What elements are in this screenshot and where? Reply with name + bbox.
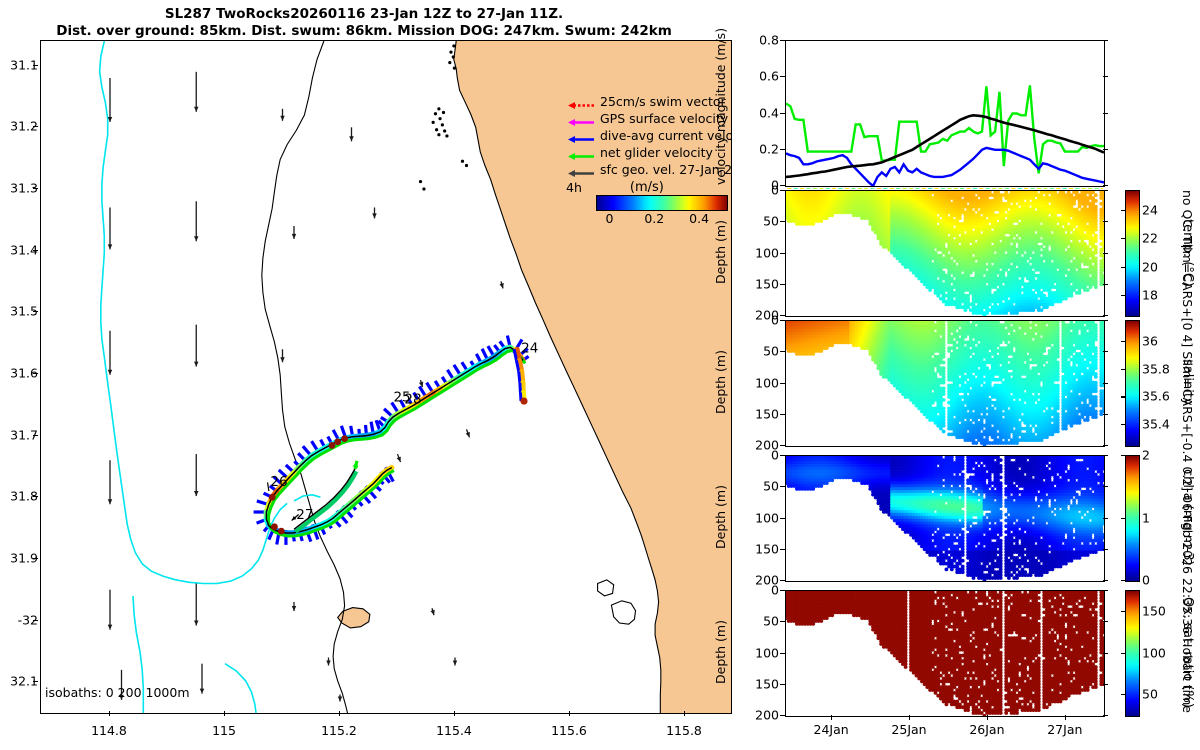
velocity-y-tick-right xyxy=(1103,149,1108,150)
chlorophyll-section-colorbar-tick-label: 2 xyxy=(1142,448,1150,463)
salinity-section-depth-tick-label: 100 xyxy=(745,375,779,390)
map-colorbar xyxy=(596,195,728,211)
temperature-section-depth-tick xyxy=(780,221,785,222)
oxygen-section-depth-tick-label: 0 xyxy=(745,583,779,598)
salinity-section-colorbar-tick xyxy=(1121,369,1125,370)
temperature-section-colorbar-tick xyxy=(1121,210,1125,211)
chlorophyll-section-colorbar xyxy=(1125,455,1140,582)
map-x-tick xyxy=(339,711,340,716)
legend-entry: 25cm/s swim vector xyxy=(566,93,732,110)
legend-label: 25cm/s swim vector xyxy=(596,94,726,109)
salinity-section-colorbar-tick-label: 36 xyxy=(1142,333,1158,348)
oxygen-section-colorbar-tick xyxy=(1121,611,1125,612)
oxygen-section-depth-tick-label: 100 xyxy=(745,645,779,660)
salinity-section-depth-tick-label: 50 xyxy=(745,344,779,359)
legend-entry: net glider velocity xyxy=(566,144,732,161)
chlorophyll-section-panel[interactable] xyxy=(785,455,1105,582)
chlorophyll-section-depth-tick xyxy=(780,580,785,581)
chlorophyll-section-canvas xyxy=(786,456,1104,581)
temperature-section-colorbar-tick-label: 24 xyxy=(1142,202,1158,217)
temperature-section-depth-tick xyxy=(780,190,785,191)
oxygen-section-depth-tick xyxy=(780,715,785,716)
title-line-2: Dist. over ground: 85km. Dist. swum: 86k… xyxy=(0,23,728,40)
temperature-section-depth-tick xyxy=(780,253,785,254)
svg-text:27: 27 xyxy=(296,507,313,523)
time-tick xyxy=(987,715,988,720)
oxygen-section-colorbar-tick xyxy=(1121,694,1125,695)
chlorophyll-section-depth-tick-label: 50 xyxy=(745,479,779,494)
oxygen-section-depth-tick xyxy=(780,684,785,685)
chlorophyll-section-depth-tick-label: 0 xyxy=(745,448,779,463)
chlorophyll-section-colorbar-tick-label: 1 xyxy=(1142,510,1150,525)
colorbar-tick-label: 0.4 xyxy=(689,211,709,226)
salinity-section-depth-tick xyxy=(780,351,785,352)
oxygen-section-colorbar-tick-label: 100 xyxy=(1142,645,1166,660)
svg-text:24: 24 xyxy=(521,340,538,356)
salinity-section-y-axis-label: Depth (m) xyxy=(713,320,728,445)
velocity-y-tick-label: 0.4 xyxy=(745,105,779,120)
time-axis: 24Jan25Jan26Jan27Jan xyxy=(785,722,1103,740)
map-legend: 25cm/s swim vector GPS surface velocity … xyxy=(566,93,732,226)
chlorophyll-section-depth-tick-label: 150 xyxy=(745,541,779,556)
dive-marker-strip xyxy=(785,181,1103,189)
chlorophyll-section-colorbar-tick xyxy=(1121,580,1125,581)
time-tick-label: 27Jan xyxy=(1047,722,1082,737)
salinity-section-colorbar-tick xyxy=(1121,396,1125,397)
map-y-tick xyxy=(33,65,38,66)
svg-text:28: 28 xyxy=(404,392,421,408)
time-tick xyxy=(831,715,832,720)
time-tick-label: 26Jan xyxy=(969,722,1004,737)
isobath-legend-label: isobaths: 0 200 1000m xyxy=(45,685,190,700)
chlorophyll-section-depth-tick xyxy=(780,549,785,550)
map-x-tick-label: 114.8 xyxy=(91,723,127,738)
temperature-section-depth-tick-label: 0 xyxy=(745,183,779,198)
temperature-section-depth-tick-right xyxy=(1103,315,1108,316)
velocity-y-tick-label: 0.6 xyxy=(745,69,779,84)
map-y-tick xyxy=(33,620,38,621)
salinity-section-colorbar-tick-label: 35.6 xyxy=(1142,389,1170,404)
chlorophyll-section-depth-tick xyxy=(780,455,785,456)
oxygen-section-depth-tick-label: 50 xyxy=(745,614,779,629)
map-y-tick xyxy=(33,126,38,127)
velocity-y-tick xyxy=(780,113,785,114)
salinity-section-colorbar-tick xyxy=(1121,424,1125,425)
temperature-section-depth-tick-right xyxy=(1103,284,1108,285)
temperature-section-depth-tick-label: 100 xyxy=(745,245,779,260)
temperature-section-colorbar-tick-label: 18 xyxy=(1142,288,1158,303)
map-panel[interactable]: 2425282627 isobaths: 0 200 1000m 25cm/s … xyxy=(40,40,732,714)
salinity-section-colorbar-tick xyxy=(1121,341,1125,342)
temperature-section-colorbar-tick xyxy=(1121,238,1125,239)
map-x-tick xyxy=(684,711,685,716)
temperature-section-colorbar-tick xyxy=(1121,267,1125,268)
salinity-section-colorbar-tick-label: 35.4 xyxy=(1142,417,1170,432)
map-x-axis: 114.8115115.2115.4115.6115.8 xyxy=(40,716,730,736)
velocity-y-tick xyxy=(780,149,785,150)
map-y-axis: 31.131.231.331.431.531.631.731.831.9-323… xyxy=(0,40,38,712)
chlorophyll-section-colorbar-tick xyxy=(1121,518,1125,519)
legend-label: net glider velocity xyxy=(596,145,713,160)
processing-stamp: no QC. Tlim=CARS+[0 4] Slim=CARS+[-0.4 0… xyxy=(1180,190,1195,735)
map-y-tick xyxy=(33,373,38,374)
temperature-section-colorbar xyxy=(1125,190,1140,317)
map-colorbar-ticks: 00.20.4 xyxy=(596,211,726,226)
oxygen-section-depth-tick xyxy=(780,621,785,622)
legend-entry: GPS surface velocity xyxy=(566,110,732,127)
temperature-section-depth-tick-right xyxy=(1103,221,1108,222)
svg-text:26: 26 xyxy=(270,474,287,490)
figure-title: SL287 TwoRocks20260116 23-Jan 12Z to 27-… xyxy=(0,6,728,40)
oxygen-section-colorbar-tick-label: 50 xyxy=(1142,687,1158,702)
legend-label: GPS surface velocity xyxy=(596,111,728,126)
salinity-section-depth-tick-right xyxy=(1103,445,1108,446)
velocity-y-tick xyxy=(780,76,785,77)
temperature-section-depth-tick xyxy=(780,315,785,316)
title-line-1: SL287 TwoRocks20260116 23-Jan 12Z to 27-… xyxy=(0,6,728,23)
map-x-tick xyxy=(224,711,225,716)
temperature-section-colorbar-tick-label: 20 xyxy=(1142,259,1158,274)
velocity-y-tick-right xyxy=(1103,113,1108,114)
legend-arrow-icon xyxy=(566,164,596,175)
oxygen-section-depth-tick-label: 200 xyxy=(745,708,779,723)
salinity-section-depth-tick-right xyxy=(1103,320,1108,321)
velocity-y-tick-right xyxy=(1103,76,1108,77)
chlorophyll-section-depth-tick xyxy=(780,518,785,519)
velocity-canvas xyxy=(786,41,1104,186)
oxygen-section-canvas xyxy=(786,591,1104,716)
velocity-y-tick-right xyxy=(1103,185,1108,186)
map-y-tick xyxy=(33,558,38,559)
time-tick xyxy=(909,715,910,720)
velocity-y-tick xyxy=(780,185,785,186)
oxygen-section-depth-tick-right xyxy=(1103,590,1108,591)
salinity-section-depth-tick xyxy=(780,445,785,446)
salinity-section-depth-tick-label: 0 xyxy=(745,313,779,328)
map-y-tick xyxy=(33,681,38,682)
oxygen-section-depth-tick-right xyxy=(1103,653,1108,654)
chlorophyll-section-colorbar-tick-label: 0 xyxy=(1142,573,1150,588)
oxygen-section-y-axis-label: Depth (m) xyxy=(713,590,728,715)
temperature-section-depth-tick-right xyxy=(1103,190,1108,191)
map-x-tick-label: 115.4 xyxy=(436,723,472,738)
velocity-y-tick-label: 0.2 xyxy=(745,141,779,156)
chlorophyll-section-depth-tick-right xyxy=(1103,486,1108,487)
oxygen-section-colorbar-tick-label: 150 xyxy=(1142,603,1166,618)
salinity-section-depth-tick-right xyxy=(1103,414,1108,415)
temperature-section-depth-tick-label: 50 xyxy=(745,214,779,229)
temperature-section-depth-tick-right xyxy=(1103,253,1108,254)
oxygen-section-depth-tick-label: 150 xyxy=(745,676,779,691)
legend-label: sfc geo. vel. 27-Jan-2026 xyxy=(596,162,732,177)
map-y-tick xyxy=(33,250,38,251)
map-y-tick xyxy=(33,311,38,312)
legend-entry: dive-avg current veloc. xyxy=(566,127,732,144)
salinity-section-depth-tick xyxy=(780,383,785,384)
chlorophyll-section-depth-tick-right xyxy=(1103,518,1108,519)
oxygen-section-depth-tick xyxy=(780,590,785,591)
map-x-tick xyxy=(109,711,110,716)
velocity-y-tick-label: 0.8 xyxy=(745,33,779,48)
chlorophyll-section-depth-tick-right xyxy=(1103,549,1108,550)
salinity-section-depth-tick xyxy=(780,320,785,321)
legend-arrow-icon xyxy=(566,113,596,124)
time-tick-label: 25Jan xyxy=(891,722,926,737)
salinity-section-depth-tick-right xyxy=(1103,351,1108,352)
oxygen-section-depth-tick-right xyxy=(1103,621,1108,622)
chlorophyll-section-depth-tick-right xyxy=(1103,455,1108,456)
temperature-section-panel[interactable] xyxy=(785,190,1105,317)
legend-entry: sfc geo. vel. 27-Jan-2026 xyxy=(566,161,732,178)
velocity-y-tick xyxy=(780,40,785,41)
temperature-section-depth-tick xyxy=(780,284,785,285)
colorbar-tick-label: 0 xyxy=(605,211,613,226)
map-x-tick-label: 115.2 xyxy=(321,723,357,738)
map-x-tick-label: 115.8 xyxy=(666,723,702,738)
salinity-section-depth-tick xyxy=(780,414,785,415)
legend-arrow-icon xyxy=(566,147,596,158)
map-y-tick xyxy=(33,435,38,436)
chlorophyll-section-colorbar-tick xyxy=(1121,455,1125,456)
colorbar-tick-label: 0.2 xyxy=(644,211,664,226)
map-x-tick xyxy=(569,711,570,716)
velocity-plot[interactable] xyxy=(785,40,1105,187)
oxygen-section-colorbar-tick xyxy=(1121,653,1125,654)
oxygen-section-panel[interactable] xyxy=(785,590,1105,717)
chlorophyll-section-depth-tick-right xyxy=(1103,580,1108,581)
scale-note: 4h xyxy=(566,180,582,195)
map-x-tick-label: 115 xyxy=(212,723,236,738)
time-tick-label: 24Jan xyxy=(814,722,849,737)
salinity-section-depth-tick-right xyxy=(1103,383,1108,384)
salinity-section-panel[interactable] xyxy=(785,320,1105,447)
temperature-section-canvas xyxy=(786,191,1104,316)
colorbar-title: (m/s) xyxy=(582,180,712,195)
temperature-section-depth-tick-label: 150 xyxy=(745,276,779,291)
legend-arrow-icon xyxy=(566,130,596,141)
map-y-tick xyxy=(33,188,38,189)
legend-label: dive-avg current veloc. xyxy=(596,128,732,143)
oxygen-section-depth-tick-right xyxy=(1103,684,1108,685)
velocity-y-axis-label: velocity magnitude (m/s) xyxy=(713,40,728,185)
temperature-section-y-axis-label: Depth (m) xyxy=(713,190,728,315)
chlorophyll-section-y-axis-label: Depth (m) xyxy=(713,455,728,580)
oxygen-section-depth-tick xyxy=(780,653,785,654)
salinity-section-canvas xyxy=(786,321,1104,446)
oxygen-section-depth-tick-right xyxy=(1103,715,1108,716)
temperature-section-colorbar-tick-label: 22 xyxy=(1142,231,1158,246)
map-x-tick-label: 115.6 xyxy=(551,723,587,738)
velocity-y-tick-right xyxy=(1103,40,1108,41)
chlorophyll-section-depth-tick xyxy=(780,486,785,487)
time-tick xyxy=(1065,715,1066,720)
salinity-section-depth-tick-label: 150 xyxy=(745,406,779,421)
oxygen-section-colorbar xyxy=(1125,590,1140,717)
salinity-section-colorbar xyxy=(1125,320,1140,447)
map-x-tick xyxy=(454,711,455,716)
temperature-section-colorbar-tick xyxy=(1121,295,1125,296)
salinity-section-colorbar-tick-label: 35.8 xyxy=(1142,361,1170,376)
chlorophyll-section-depth-tick-label: 100 xyxy=(745,510,779,525)
legend-arrow-icon xyxy=(566,96,596,107)
map-y-tick xyxy=(33,496,38,497)
